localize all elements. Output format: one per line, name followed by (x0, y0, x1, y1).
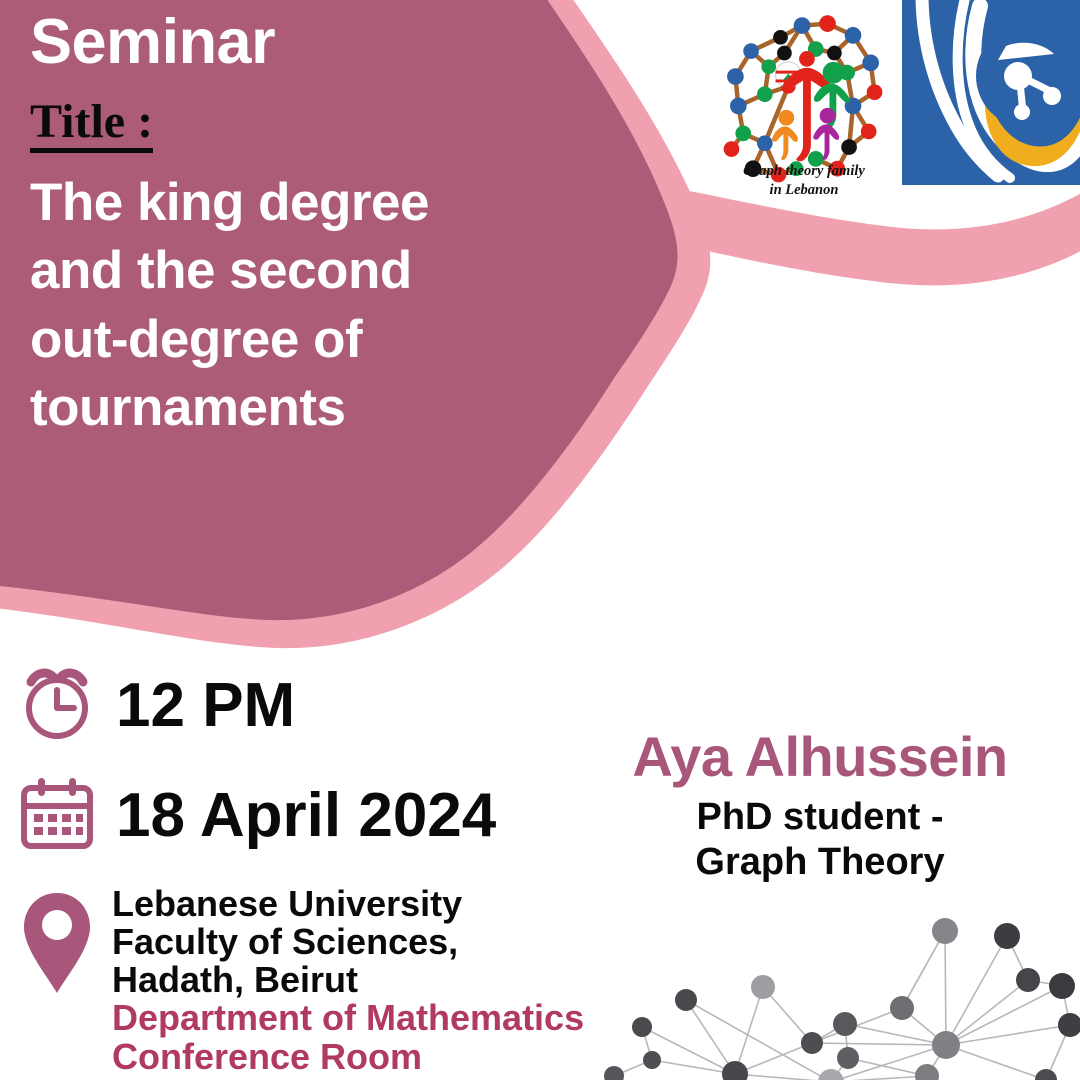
place-accent-line-1: Department of Mathematics (112, 999, 584, 1038)
speaker-role: PhD student - Graph Theory (560, 795, 1080, 885)
calendar-icon (14, 770, 100, 861)
page-title: Seminar (30, 8, 510, 76)
logo-row: Graph theory family in Lebanon (706, 0, 1080, 205)
speaker-name: Aya Alhussein (560, 728, 1080, 787)
talk-title: The king degree and the second out-degre… (30, 169, 510, 442)
time-row: 12 PM (14, 660, 295, 751)
place-line-3: Hadath, Beirut (112, 961, 584, 999)
gtf-caption-line2: in Lebanon (706, 181, 902, 201)
title-block: Seminar Title : The king degree and the … (30, 8, 510, 442)
speaker-block: Aya Alhussein PhD student - Graph Theory (560, 728, 1080, 884)
network-graph-decoration (600, 890, 1080, 1080)
gtf-caption-line1: Graph theory family (706, 162, 902, 182)
family-figures (772, 51, 849, 161)
speaker-role-line2: Graph Theory (560, 840, 1080, 885)
map-pin-icon (14, 885, 100, 1005)
network-graph-nodes (604, 918, 1080, 1080)
place-text-block: Lebanese University Faculty of Sciences,… (112, 885, 584, 1077)
graph-theory-family-caption: Graph theory family in Lebanon (706, 162, 902, 201)
place-line-2: Faculty of Sciences, (112, 923, 584, 961)
date-row: 18 April 2024 (14, 770, 496, 861)
alarm-clock-icon (14, 660, 100, 751)
network-graph-edges (614, 931, 1070, 1080)
date-value: 18 April 2024 (116, 785, 496, 847)
title-label: Title : (30, 98, 153, 153)
time-value: 12 PM (116, 675, 295, 737)
lebanese-university-logo (902, 0, 1080, 185)
graph-theory-family-logo: Graph theory family in Lebanon (706, 0, 902, 205)
place-accent-line-2: Conference Room (112, 1038, 584, 1077)
place-row: Lebanese University Faculty of Sciences,… (14, 885, 584, 1077)
seminar-poster: Seminar Title : The king degree and the … (0, 0, 1080, 1080)
place-line-1: Lebanese University (112, 885, 584, 923)
speaker-role-line1: PhD student - (560, 795, 1080, 840)
